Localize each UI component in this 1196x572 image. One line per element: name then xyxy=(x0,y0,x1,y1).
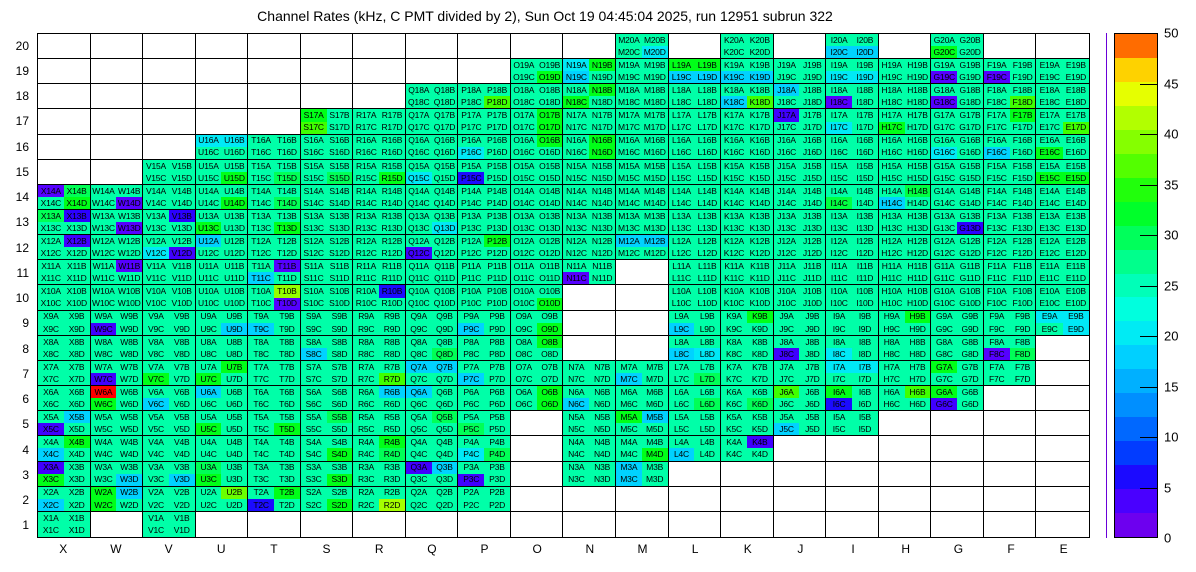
channel-N15D: N15D xyxy=(589,172,615,184)
grid-cell-P7: P7AP7BP7CP7D xyxy=(458,361,511,386)
channel-W5C: W5C xyxy=(91,423,117,435)
channel-P13B: P13B xyxy=(484,210,510,222)
grid-cell-R15: R15AR15BR15CR15D xyxy=(353,160,406,185)
channel-F7D: F7D xyxy=(1010,373,1036,385)
channel-K4B: K4B xyxy=(747,436,773,448)
channel-J18B: J18B xyxy=(799,84,825,96)
channel-J8A: J8A xyxy=(774,336,800,348)
grid-cell-U20 xyxy=(196,34,249,59)
grid-cell-T16: T16AT16BT16CT16D xyxy=(248,135,301,160)
channel-W6D: W6D xyxy=(116,398,142,410)
empty-subcell xyxy=(38,172,64,184)
channel-F12C: F12C xyxy=(984,247,1010,259)
channel-N3D: N3D xyxy=(589,474,615,486)
empty-subcell xyxy=(563,285,589,297)
channel-Q13C: Q13C xyxy=(406,222,432,234)
channel-V4B: V4B xyxy=(169,436,195,448)
channel-J14C: J14C xyxy=(774,197,800,209)
channel-J5A: J5A xyxy=(774,411,800,423)
empty-subcell xyxy=(353,71,379,83)
channel-G9D: G9D xyxy=(957,323,983,335)
y-axis-tick-15: 15 xyxy=(16,165,29,179)
empty-subcell xyxy=(1063,487,1089,499)
channel-X14D: X14D xyxy=(64,197,90,209)
channel-N18C: N18C xyxy=(563,96,589,108)
colorbar-left-edge xyxy=(1106,33,1107,538)
empty-subcell xyxy=(91,524,117,537)
channel-T2A: T2A xyxy=(248,487,274,499)
colorbar-tick-mark xyxy=(1140,185,1158,186)
empty-subcell xyxy=(327,34,353,46)
channel-X13C: X13C xyxy=(38,222,64,234)
channel-I10C: I10C xyxy=(826,298,852,310)
empty-subcell xyxy=(432,71,458,83)
channel-W5B: W5B xyxy=(116,411,142,423)
empty-subcell xyxy=(747,499,773,511)
empty-subcell xyxy=(1010,462,1036,474)
channel-Q15B: Q15B xyxy=(432,160,458,172)
channel-X1C: X1C xyxy=(38,524,64,537)
grid-cell-X4: X4AX4BX4CX4D xyxy=(38,436,91,461)
channel-K12C: K12C xyxy=(721,247,747,259)
channel-O12A: O12A xyxy=(511,235,537,247)
empty-subcell xyxy=(196,59,222,71)
channel-U4D: U4D xyxy=(221,448,247,460)
channel-U15B: U15B xyxy=(221,160,247,172)
grid-cell-J5: J5AJ5BJ5CJ5D xyxy=(774,411,827,436)
empty-subcell xyxy=(379,512,405,525)
channel-X2C: X2C xyxy=(38,499,64,511)
grid-cell-T14: T14AT14BT14CT14D xyxy=(248,185,301,210)
grid-cell-L7: L7AL7BL7CL7D xyxy=(669,361,722,386)
channel-M16D: M16D xyxy=(642,147,668,159)
channel-E16B: E16B xyxy=(1063,135,1089,147)
empty-subcell xyxy=(511,411,537,423)
channel-Q9C: Q9C xyxy=(406,323,432,335)
grid-cell-T18 xyxy=(248,84,301,109)
channel-N12A: N12A xyxy=(563,235,589,247)
channel-T11D: T11D xyxy=(274,272,300,284)
channel-P13C: P13C xyxy=(458,222,484,234)
channel-Q12D: Q12D xyxy=(432,247,458,259)
channel-L16D: L16D xyxy=(694,147,720,159)
channel-V9B: V9B xyxy=(169,311,195,323)
empty-subcell xyxy=(353,34,379,46)
empty-subcell xyxy=(1063,499,1089,511)
channel-U16B: U16B xyxy=(221,135,247,147)
empty-subcell xyxy=(931,436,957,448)
empty-subcell xyxy=(984,499,1010,511)
empty-subcell xyxy=(458,512,484,525)
grid-cell-I20: I20AI20BI20CI20D xyxy=(826,34,879,59)
channel-G12A: G12A xyxy=(931,235,957,247)
channel-J11B: J11B xyxy=(799,260,825,272)
channel-Q12C: Q12C xyxy=(406,247,432,259)
channel-O9C: O9C xyxy=(511,323,537,335)
grid-cell-V17 xyxy=(143,109,196,134)
channel-X11C: X11C xyxy=(38,272,64,284)
empty-subcell xyxy=(747,524,773,537)
empty-subcell xyxy=(301,34,327,46)
channel-X7C: X7C xyxy=(38,373,64,385)
channel-U16A: U16A xyxy=(196,135,222,147)
empty-subcell xyxy=(274,59,300,71)
channel-V7C: V7C xyxy=(143,373,169,385)
grid-cell-H3 xyxy=(879,462,932,487)
x-axis-tick-H: H xyxy=(901,542,910,556)
channel-R3B: R3B xyxy=(379,462,405,474)
channel-F19A: F19A xyxy=(984,59,1010,71)
channel-X13A: X13A xyxy=(38,210,64,222)
channel-W11A: W11A xyxy=(91,260,117,272)
channel-L11D: L11D xyxy=(694,272,720,284)
y-axis-tick-13: 13 xyxy=(16,215,29,229)
grid-cell-K16: K16AK16BK16CK16D xyxy=(721,135,774,160)
channel-M4B: M4B xyxy=(642,436,668,448)
channel-M7C: M7C xyxy=(616,373,642,385)
channel-R9D: R9D xyxy=(379,323,405,335)
empty-subcell xyxy=(432,59,458,71)
channel-R7D: R7D xyxy=(379,373,405,385)
channel-P14C: P14C xyxy=(458,197,484,209)
channel-I6C: I6C xyxy=(826,398,852,410)
channel-I15C: I15C xyxy=(826,172,852,184)
channel-U15D: U15D xyxy=(221,172,247,184)
channel-J7D: J7D xyxy=(799,373,825,385)
channel-E14A: E14A xyxy=(1036,185,1062,197)
empty-subcell xyxy=(957,411,983,423)
grid-cell-K18: K18AK18BK18CK18D xyxy=(721,84,774,109)
empty-subcell xyxy=(589,487,615,499)
channel-U11D: U11D xyxy=(221,272,247,284)
grid-cell-R2: R2AR2BR2CR2D xyxy=(353,487,406,512)
grid-cell-P11: P11AP11BP11CP11D xyxy=(458,260,511,285)
grid-cell-I5: I5AI5BI5CI5D xyxy=(826,411,879,436)
empty-subcell xyxy=(274,122,300,134)
channel-U12C: U12C xyxy=(196,247,222,259)
empty-subcell xyxy=(1036,386,1062,398)
empty-subcell xyxy=(38,109,64,121)
channel-R8D: R8D xyxy=(379,348,405,360)
empty-subcell xyxy=(274,524,300,537)
channel-T6D: T6D xyxy=(274,398,300,410)
grid-cell-F4 xyxy=(984,436,1037,461)
channel-E15C: E15C xyxy=(1036,172,1062,184)
channel-I7A: I7A xyxy=(826,361,852,373)
channel-V6B: V6B xyxy=(169,386,195,398)
channel-V11B: V11B xyxy=(169,260,195,272)
channel-E18C: E18C xyxy=(1036,96,1062,108)
channel-K14A: K14A xyxy=(721,185,747,197)
grid-cell-G9: G9AG9BG9CG9D xyxy=(931,311,984,336)
channel-P17A: P17A xyxy=(458,109,484,121)
empty-subcell xyxy=(957,448,983,460)
grid-cell-J6: J6AJ6BJ6CJ6D xyxy=(774,386,827,411)
channel-M3C: M3C xyxy=(616,474,642,486)
channel-N13A: N13A xyxy=(563,210,589,222)
empty-subcell xyxy=(248,109,274,121)
empty-subcell xyxy=(116,147,142,159)
channel-T15D: T15D xyxy=(274,172,300,184)
empty-subcell xyxy=(826,474,852,486)
empty-subcell xyxy=(852,524,878,537)
x-axis-tick-E: E xyxy=(1060,542,1068,556)
channel-G9A: G9A xyxy=(931,311,957,323)
channel-S11C: S11C xyxy=(301,272,327,284)
channel-F14D: F14D xyxy=(1010,197,1036,209)
channel-N5B: N5B xyxy=(589,411,615,423)
empty-subcell xyxy=(143,34,169,46)
channel-O14D: O14D xyxy=(537,197,563,209)
x-axis-tick-T: T xyxy=(270,542,277,556)
y-axis-tick-16: 16 xyxy=(16,140,29,154)
channel-E17C: E17C xyxy=(1036,122,1062,134)
channel-L6B: L6B xyxy=(694,386,720,398)
grid-cell-L17: L17AL17BL17CL17D xyxy=(669,109,722,134)
grid-cell-O12: O12AO12BO12CO12D xyxy=(511,235,564,260)
grid-cell-L4: L4AL4BL4CL4D xyxy=(669,436,722,461)
grid-cell-W6: W6AW6BW6CW6D xyxy=(91,386,144,411)
channel-P7B: P7B xyxy=(484,361,510,373)
channel-S9C: S9C xyxy=(301,323,327,335)
empty-subcell xyxy=(327,512,353,525)
channel-O14A: O14A xyxy=(511,185,537,197)
empty-subcell xyxy=(353,59,379,71)
channel-U16D: U16D xyxy=(221,147,247,159)
channel-L19D: L19D xyxy=(694,71,720,83)
channel-P12C: P12C xyxy=(458,247,484,259)
channel-S8B: S8B xyxy=(327,336,353,348)
empty-subcell xyxy=(38,160,64,172)
empty-subcell xyxy=(721,512,747,525)
empty-subcell xyxy=(905,34,931,46)
x-axis-tick-W: W xyxy=(110,542,121,556)
empty-subcell xyxy=(642,298,668,310)
empty-subcell xyxy=(143,84,169,96)
channel-P3D: P3D xyxy=(484,474,510,486)
channel-E18B: E18B xyxy=(1063,84,1089,96)
channel-M3A: M3A xyxy=(616,462,642,474)
channel-J14B: J14B xyxy=(799,185,825,197)
channel-W9C: W9C xyxy=(91,323,117,335)
channel-Q10D: Q10D xyxy=(432,298,458,310)
empty-subcell xyxy=(1036,474,1062,486)
channel-P14D: P14D xyxy=(484,197,510,209)
grid-cell-E5 xyxy=(1036,411,1089,436)
channel-T7C: T7C xyxy=(248,373,274,385)
grid-cell-R14: R14AR14BR14CR14D xyxy=(353,185,406,210)
channel-I17A: I17A xyxy=(826,109,852,121)
heatmap-plot-area: M20AM20BM20CM20DK20AK20BK20CK20DI20AI20B… xyxy=(37,33,1090,538)
channel-Q2A: Q2A xyxy=(406,487,432,499)
grid-cell-I14: I14AI14BI14CI14D xyxy=(826,185,879,210)
channel-H12B: H12B xyxy=(905,235,931,247)
channel-K11C: K11C xyxy=(721,272,747,284)
empty-subcell xyxy=(669,499,695,511)
empty-subcell xyxy=(143,109,169,121)
channel-K9C: K9C xyxy=(721,323,747,335)
colorbar-tick-label-50: 50 xyxy=(1164,26,1178,41)
channel-R16A: R16A xyxy=(353,135,379,147)
channel-K17C: K17C xyxy=(721,122,747,134)
channel-R3D: R3D xyxy=(379,474,405,486)
channel-E18D: E18D xyxy=(1063,96,1089,108)
channel-K13A: K13A xyxy=(721,210,747,222)
grid-cell-M18: M18AM18BM18CM18D xyxy=(616,84,669,109)
channel-X3B: X3B xyxy=(64,462,90,474)
empty-subcell xyxy=(826,512,852,525)
channel-H8D: H8D xyxy=(905,348,931,360)
empty-subcell xyxy=(406,59,432,71)
channel-Q4B: Q4B xyxy=(432,436,458,448)
grid-cell-L6: L6AL6BL6CL6D xyxy=(669,386,722,411)
grid-cell-P12: P12AP12BP12CP12D xyxy=(458,235,511,260)
channel-G13C: G13C xyxy=(931,222,957,234)
grid-cell-S6: S6AS6BS6CS6D xyxy=(301,386,354,411)
channel-L17D: L17D xyxy=(694,122,720,134)
grid-cell-M15: M15AM15BM15CM15D xyxy=(616,160,669,185)
empty-subcell xyxy=(327,84,353,96)
grid-cell-S11: S11AS11BS11CS11D xyxy=(301,260,354,285)
channel-E11A: E11A xyxy=(1036,260,1062,272)
channel-H18B: H18B xyxy=(905,84,931,96)
channel-P8C: P8C xyxy=(458,348,484,360)
channel-W14B: W14B xyxy=(116,185,142,197)
channel-J5C: J5C xyxy=(774,423,800,435)
empty-subcell xyxy=(1010,499,1036,511)
grid-cell-O14: O14AO14BO14CO14D xyxy=(511,185,564,210)
channel-U9B: U9B xyxy=(221,311,247,323)
channel-W3B: W3B xyxy=(116,462,142,474)
empty-subcell xyxy=(1063,512,1089,525)
grid-cell-V2: V2AV2BV2CV2D xyxy=(143,487,196,512)
channel-L18C: L18C xyxy=(669,96,695,108)
channel-M16A: M16A xyxy=(616,135,642,147)
channel-Q14C: Q14C xyxy=(406,197,432,209)
grid-cell-R8: R8AR8BR8CR8D xyxy=(353,336,406,361)
grid-cell-I12: I12AI12BI12CI12D xyxy=(826,235,879,260)
empty-subcell xyxy=(563,512,589,525)
empty-subcell xyxy=(879,423,905,435)
channel-V1A: V1A xyxy=(143,512,169,525)
empty-subcell xyxy=(799,462,825,474)
empty-subcell xyxy=(221,524,247,537)
grid-cell-S16: S16AS16BS16CS16D xyxy=(301,135,354,160)
channel-M12A: M12A xyxy=(616,235,642,247)
grid-cell-T10: T10AT10BT10CT10D xyxy=(248,285,301,310)
empty-subcell xyxy=(169,109,195,121)
grid-cell-V19 xyxy=(143,59,196,84)
grid-cell-G13: G13AG13BG13CG13D xyxy=(931,210,984,235)
empty-subcell xyxy=(563,46,589,58)
channel-O16B: O16B xyxy=(537,135,563,147)
channel-M13A: M13A xyxy=(616,210,642,222)
channel-S12B: S12B xyxy=(327,235,353,247)
channel-K5A: K5A xyxy=(721,411,747,423)
empty-subcell xyxy=(406,71,432,83)
grid-cell-Q10: Q10AQ10BQ10CQ10D xyxy=(406,285,459,310)
channel-Q11D: Q11D xyxy=(432,272,458,284)
channel-J14D: J14D xyxy=(799,197,825,209)
channel-V13B: V13B xyxy=(169,210,195,222)
empty-subcell xyxy=(1063,411,1089,423)
grid-cell-W11: W11AW11BW11CW11D xyxy=(91,260,144,285)
channel-T5A: T5A xyxy=(248,411,274,423)
channel-O10C: O10C xyxy=(511,298,537,310)
channel-T4B: T4B xyxy=(274,436,300,448)
empty-subcell xyxy=(694,524,720,537)
empty-subcell xyxy=(91,46,117,58)
empty-subcell xyxy=(537,487,563,499)
grid-cell-G3 xyxy=(931,462,984,487)
channel-T3A: T3A xyxy=(248,462,274,474)
channel-R14D: R14D xyxy=(379,197,405,209)
grid-cell-W4: W4AW4BW4CW4D xyxy=(91,436,144,461)
grid-cell-T3: T3AT3BT3CT3D xyxy=(248,462,301,487)
grid-cell-G20: G20AG20BG20CG20D xyxy=(931,34,984,59)
empty-subcell xyxy=(38,59,64,71)
empty-subcell xyxy=(616,512,642,525)
grid-cell-T19 xyxy=(248,59,301,84)
y-axis-tick-4: 4 xyxy=(22,443,29,457)
channel-I16A: I16A xyxy=(826,135,852,147)
empty-subcell xyxy=(169,135,195,147)
channel-T6A: T6A xyxy=(248,386,274,398)
channel-I12B: I12B xyxy=(852,235,878,247)
channel-O6B: O6B xyxy=(537,386,563,398)
channel-E9B: E9B xyxy=(1063,311,1089,323)
channel-Q2B: Q2B xyxy=(432,487,458,499)
channel-T11A: T11A xyxy=(248,260,274,272)
channel-S7B: S7B xyxy=(327,361,353,373)
empty-subcell xyxy=(64,34,90,46)
grid-cell-L15: L15AL15BL15CL15D xyxy=(669,160,722,185)
y-axis-tick-6: 6 xyxy=(22,392,29,406)
channel-E9D: E9D xyxy=(1063,323,1089,335)
channel-I16D: I16D xyxy=(852,147,878,159)
channel-Q10B: Q10B xyxy=(432,285,458,297)
empty-subcell xyxy=(1036,336,1062,348)
channel-S10C: S10C xyxy=(301,298,327,310)
channel-R8C: R8C xyxy=(353,348,379,360)
channel-T8D: T8D xyxy=(274,348,300,360)
empty-subcell xyxy=(879,512,905,525)
channel-G19C: G19C xyxy=(931,71,957,83)
channel-G19A: G19A xyxy=(931,59,957,71)
empty-subcell xyxy=(537,512,563,525)
channel-M5B: M5B xyxy=(642,411,668,423)
empty-subcell xyxy=(774,462,800,474)
grid-cell-X7: X7AX7BX7CX7D xyxy=(38,361,91,386)
channel-X3D: X3D xyxy=(64,474,90,486)
channel-F17C: F17C xyxy=(984,122,1010,134)
grid-cell-K12: K12AK12BK12CK12D xyxy=(721,235,774,260)
channel-G15C: G15C xyxy=(931,172,957,184)
channel-P8A: P8A xyxy=(458,336,484,348)
grid-cell-K3 xyxy=(721,462,774,487)
empty-subcell xyxy=(563,524,589,537)
channel-Q3C: Q3C xyxy=(406,474,432,486)
channel-W7A: W7A xyxy=(91,361,117,373)
channel-X4D: X4D xyxy=(64,448,90,460)
channel-L4A: L4A xyxy=(669,436,695,448)
y-axis-tick-10: 10 xyxy=(16,291,29,305)
channel-U14B: U14B xyxy=(221,185,247,197)
empty-subcell xyxy=(747,487,773,499)
channel-V10A: V10A xyxy=(143,285,169,297)
channel-M7A: M7A xyxy=(616,361,642,373)
grid-cell-S4: S4AS4BS4CS4D xyxy=(301,436,354,461)
